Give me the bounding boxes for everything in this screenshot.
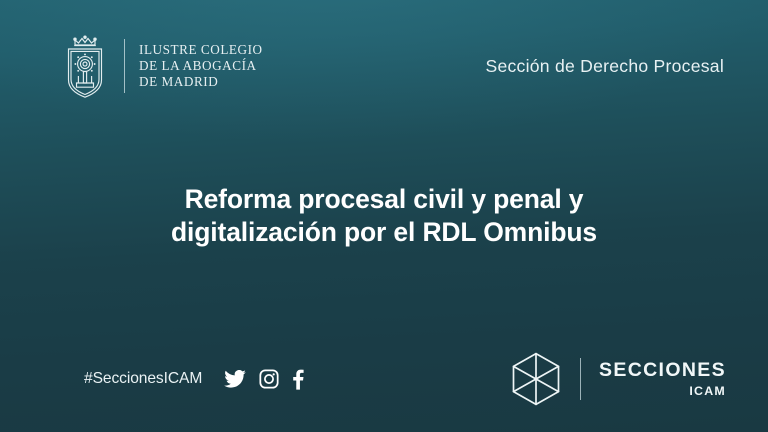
cube-icon bbox=[510, 351, 562, 407]
footer-divider bbox=[580, 358, 581, 400]
title-line-2: digitalización por el RDL Omnibus bbox=[171, 216, 597, 249]
institution-name-line-1: ILUSTRE COLEGIO bbox=[139, 42, 263, 58]
secciones-wordmark: SECCIONES ICAM bbox=[599, 361, 726, 398]
twitter-icon[interactable] bbox=[224, 370, 246, 388]
icam-crest-icon bbox=[62, 33, 108, 99]
title-line-1: Reforma procesal civil y penal y bbox=[171, 183, 597, 216]
secciones-sub-label: ICAM bbox=[689, 385, 726, 397]
slide-footer: #SeccionesICAM bbox=[0, 326, 768, 432]
institution-name-line-3: DE MADRID bbox=[139, 74, 263, 90]
secciones-brand-lockup: SECCIONES ICAM bbox=[510, 351, 726, 407]
secciones-main-label: SECCIONES bbox=[599, 361, 726, 381]
facebook-icon[interactable] bbox=[292, 369, 304, 390]
social-group: #SeccionesICAM bbox=[84, 369, 304, 390]
social-icon-list bbox=[224, 369, 304, 390]
icam-logo-lockup: ILUSTRE COLEGIO DE LA ABOGACÍA DE MADRID bbox=[62, 33, 263, 99]
header-divider bbox=[124, 39, 125, 93]
page-title: Reforma procesal civil y penal y digital… bbox=[111, 183, 657, 249]
institution-name-line-2: DE LA ABOGACÍA bbox=[139, 58, 263, 74]
section-label: Sección de Derecho Procesal bbox=[485, 56, 724, 77]
institution-name: ILUSTRE COLEGIO DE LA ABOGACÍA DE MADRID bbox=[139, 42, 263, 91]
instagram-icon[interactable] bbox=[259, 369, 279, 389]
slide-header: ILUSTRE COLEGIO DE LA ABOGACÍA DE MADRID… bbox=[0, 0, 768, 132]
hashtag-label: #SeccionesICAM bbox=[84, 370, 202, 388]
presentation-slide: ILUSTRE COLEGIO DE LA ABOGACÍA DE MADRID… bbox=[0, 0, 768, 432]
